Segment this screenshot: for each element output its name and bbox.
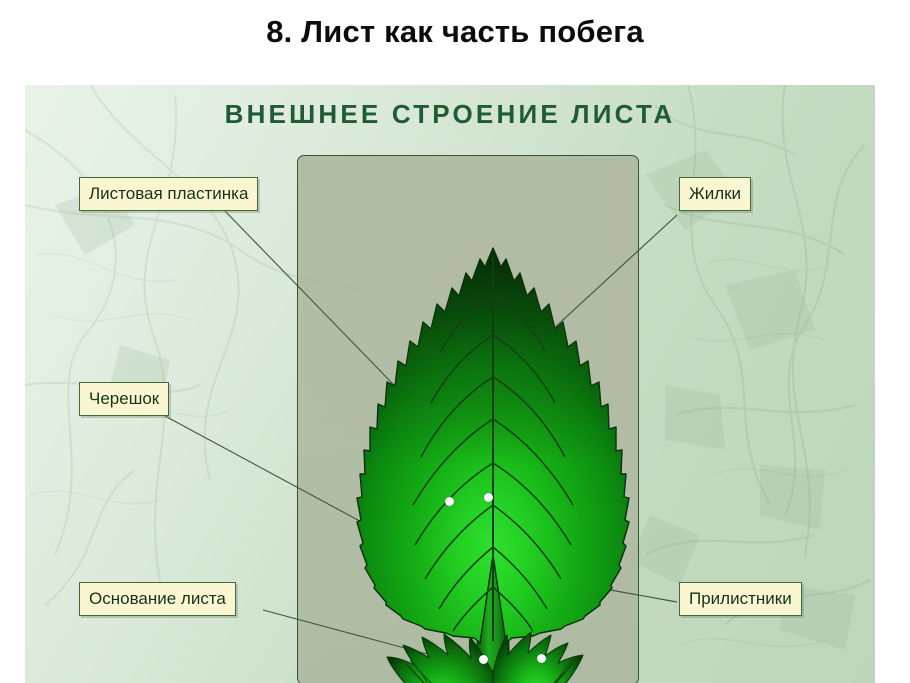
stipules-marker xyxy=(537,654,546,663)
label-stipules[interactable]: Прилистники xyxy=(679,582,802,616)
diagram-picture: ВНЕШНЕЕ СТРОЕНИЕ ЛИСТА xyxy=(25,85,875,683)
label-veins[interactable]: Жилки xyxy=(679,177,751,211)
label-petiole[interactable]: Черешок xyxy=(79,382,169,416)
label-leaf-base[interactable]: Основание листа xyxy=(79,582,236,616)
veins-marker xyxy=(484,493,493,502)
slide-canvas: 8. Лист как часть побега xyxy=(0,0,910,683)
label-leaf-blade[interactable]: Листовая пластинка xyxy=(79,177,258,211)
slide-title: 8. Лист как часть побега xyxy=(0,14,910,50)
petiole-marker xyxy=(479,655,488,664)
blade-marker xyxy=(445,497,454,506)
